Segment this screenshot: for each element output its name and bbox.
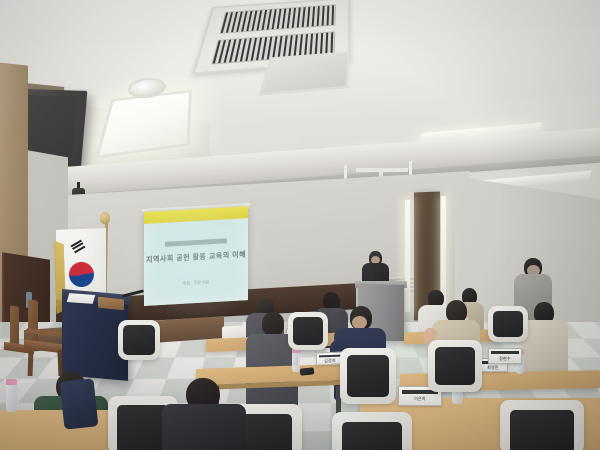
bottle-cap [6, 379, 17, 385]
water-bottle[interactable] [292, 352, 300, 372]
slide-subtitle-band [165, 238, 227, 246]
mesh-back-conference-chair[interactable] [488, 306, 528, 342]
placard-name-text: 정현수 [489, 356, 521, 362]
tissue-box[interactable] [222, 325, 246, 338]
chair-mesh-back [435, 347, 475, 385]
chair-mesh-back [342, 422, 402, 450]
projection-screen: 지역사회 공헌 활동 교육의 이해 주최 · 주관 기관 [144, 206, 248, 306]
name-placard: 정현수 [488, 348, 522, 364]
column-light-strip [405, 200, 410, 312]
stacked-papers[interactable] [67, 293, 95, 304]
slide-footer: 주최 · 주관 기관 [144, 278, 248, 290]
placard-header-strip [491, 351, 519, 354]
recessed-square-vent [258, 51, 350, 96]
placard-name-text: 최영민 [479, 365, 507, 371]
mesh-back-conference-chair[interactable] [340, 348, 396, 404]
mesh-back-conference-chair[interactable] [500, 400, 584, 450]
bag-on-floor[interactable] [60, 378, 99, 429]
chair-mesh-back [123, 325, 155, 355]
attendee-dark-right [162, 404, 246, 450]
mesh-back-conference-chair[interactable] [428, 340, 482, 392]
chair-mesh-back [347, 355, 389, 397]
mesh-back-conference-chair[interactable] [118, 320, 160, 360]
vent-louver-row [219, 4, 336, 33]
chair-mesh-back [510, 410, 574, 450]
mesh-back-conference-chair[interactable] [332, 412, 412, 450]
wooden-chair-leg [28, 350, 34, 376]
chair-mesh-back [293, 317, 323, 345]
chair-mesh-back [493, 311, 523, 337]
flag-finial-icon [100, 212, 110, 224]
placard-name-text: 이은희 [399, 396, 441, 402]
mesh-back-conference-chair[interactable] [288, 312, 328, 350]
seminar-room-photo: 지역사회 공헌 활동 교육의 이해 주최 · 주관 기관 [0, 0, 600, 450]
attendee-head [262, 312, 284, 336]
smartphone[interactable] [300, 367, 315, 375]
water-bottle[interactable] [6, 384, 17, 412]
slide-title: 지역사회 공헌 활동 교육의 이해 [144, 249, 248, 265]
